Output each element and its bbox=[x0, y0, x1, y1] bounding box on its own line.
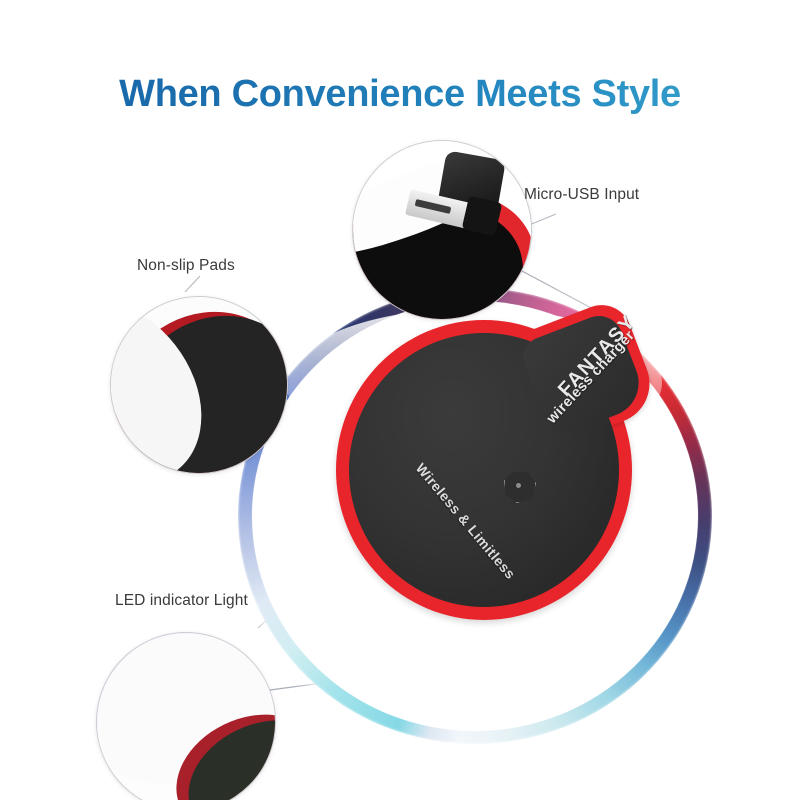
product-marketing-image: When Convenience Meets Style FANTASY wir… bbox=[0, 0, 800, 800]
leader-line-non-slip-label bbox=[185, 276, 200, 292]
magnifier-led-indicator bbox=[96, 632, 276, 800]
wireless-charger-product: FANTASY wireless charger Wireless & Limi… bbox=[232, 268, 732, 768]
magnifier-micro-usb bbox=[352, 140, 532, 320]
magnifier-micro-usb-content bbox=[353, 141, 531, 319]
magnifier-led-content bbox=[97, 633, 275, 800]
magnifier-non-slip-pads bbox=[110, 296, 288, 474]
page-title: When Convenience Meets Style bbox=[0, 74, 800, 116]
callout-label-non-slip-pads: Non-slip Pads bbox=[137, 257, 235, 275]
callout-label-led-indicator: LED indicator Light bbox=[115, 592, 248, 610]
magnifier-non-slip-content bbox=[111, 297, 287, 473]
callout-label-micro-usb: Micro-USB Input bbox=[524, 186, 639, 204]
coil-center-dot bbox=[516, 483, 521, 488]
